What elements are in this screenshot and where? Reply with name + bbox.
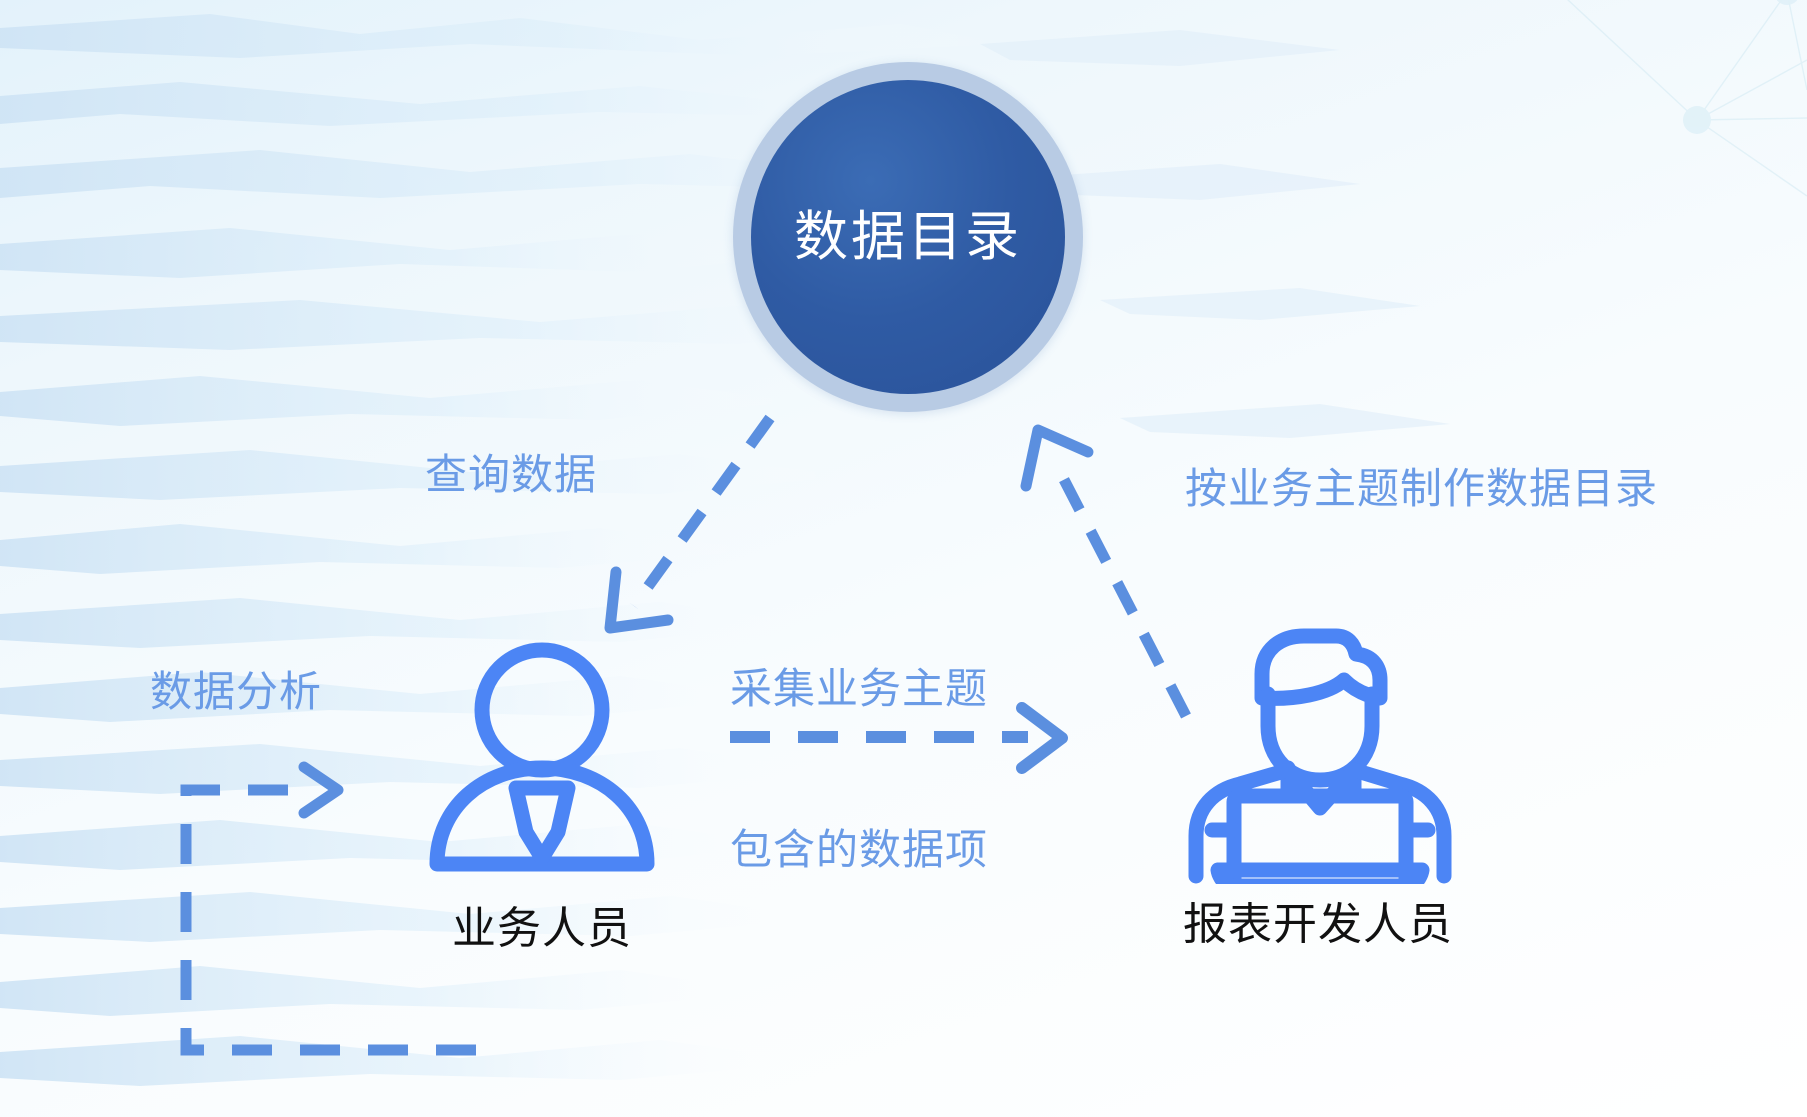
- flow-label-collect-line2: 包含的数据项: [730, 823, 988, 877]
- actor-business-person-label: 业务人员: [452, 892, 632, 956]
- data-catalog-node-fill: 数据目录: [751, 80, 1065, 394]
- data-catalog-node[interactable]: 数据目录: [733, 62, 1083, 412]
- report-developer-icon: [1168, 618, 1468, 884]
- flow-label-collect-line1: 采集业务主题: [730, 662, 988, 716]
- actor-report-developer[interactable]: 报表开发人员: [1148, 618, 1488, 952]
- diagram-canvas: 数据目录 查询数据 按业务主题制作数据目录 采集业务主题 包含的数据项 数据分析…: [0, 0, 1807, 1117]
- actor-report-developer-label: 报表开发人员: [1183, 888, 1453, 952]
- flow-label-data-analysis: 数据分析: [150, 665, 322, 719]
- business-person-icon: [411, 640, 673, 888]
- data-catalog-label: 数据目录: [794, 210, 1022, 264]
- actor-business-person[interactable]: 业务人员: [392, 640, 692, 956]
- flow-label-build-catalog: 按业务主题制作数据目录: [1185, 462, 1658, 516]
- flow-label-collect-data-items: 采集业务主题 包含的数据项: [730, 554, 988, 984]
- flow-label-query-data: 查询数据: [425, 448, 597, 502]
